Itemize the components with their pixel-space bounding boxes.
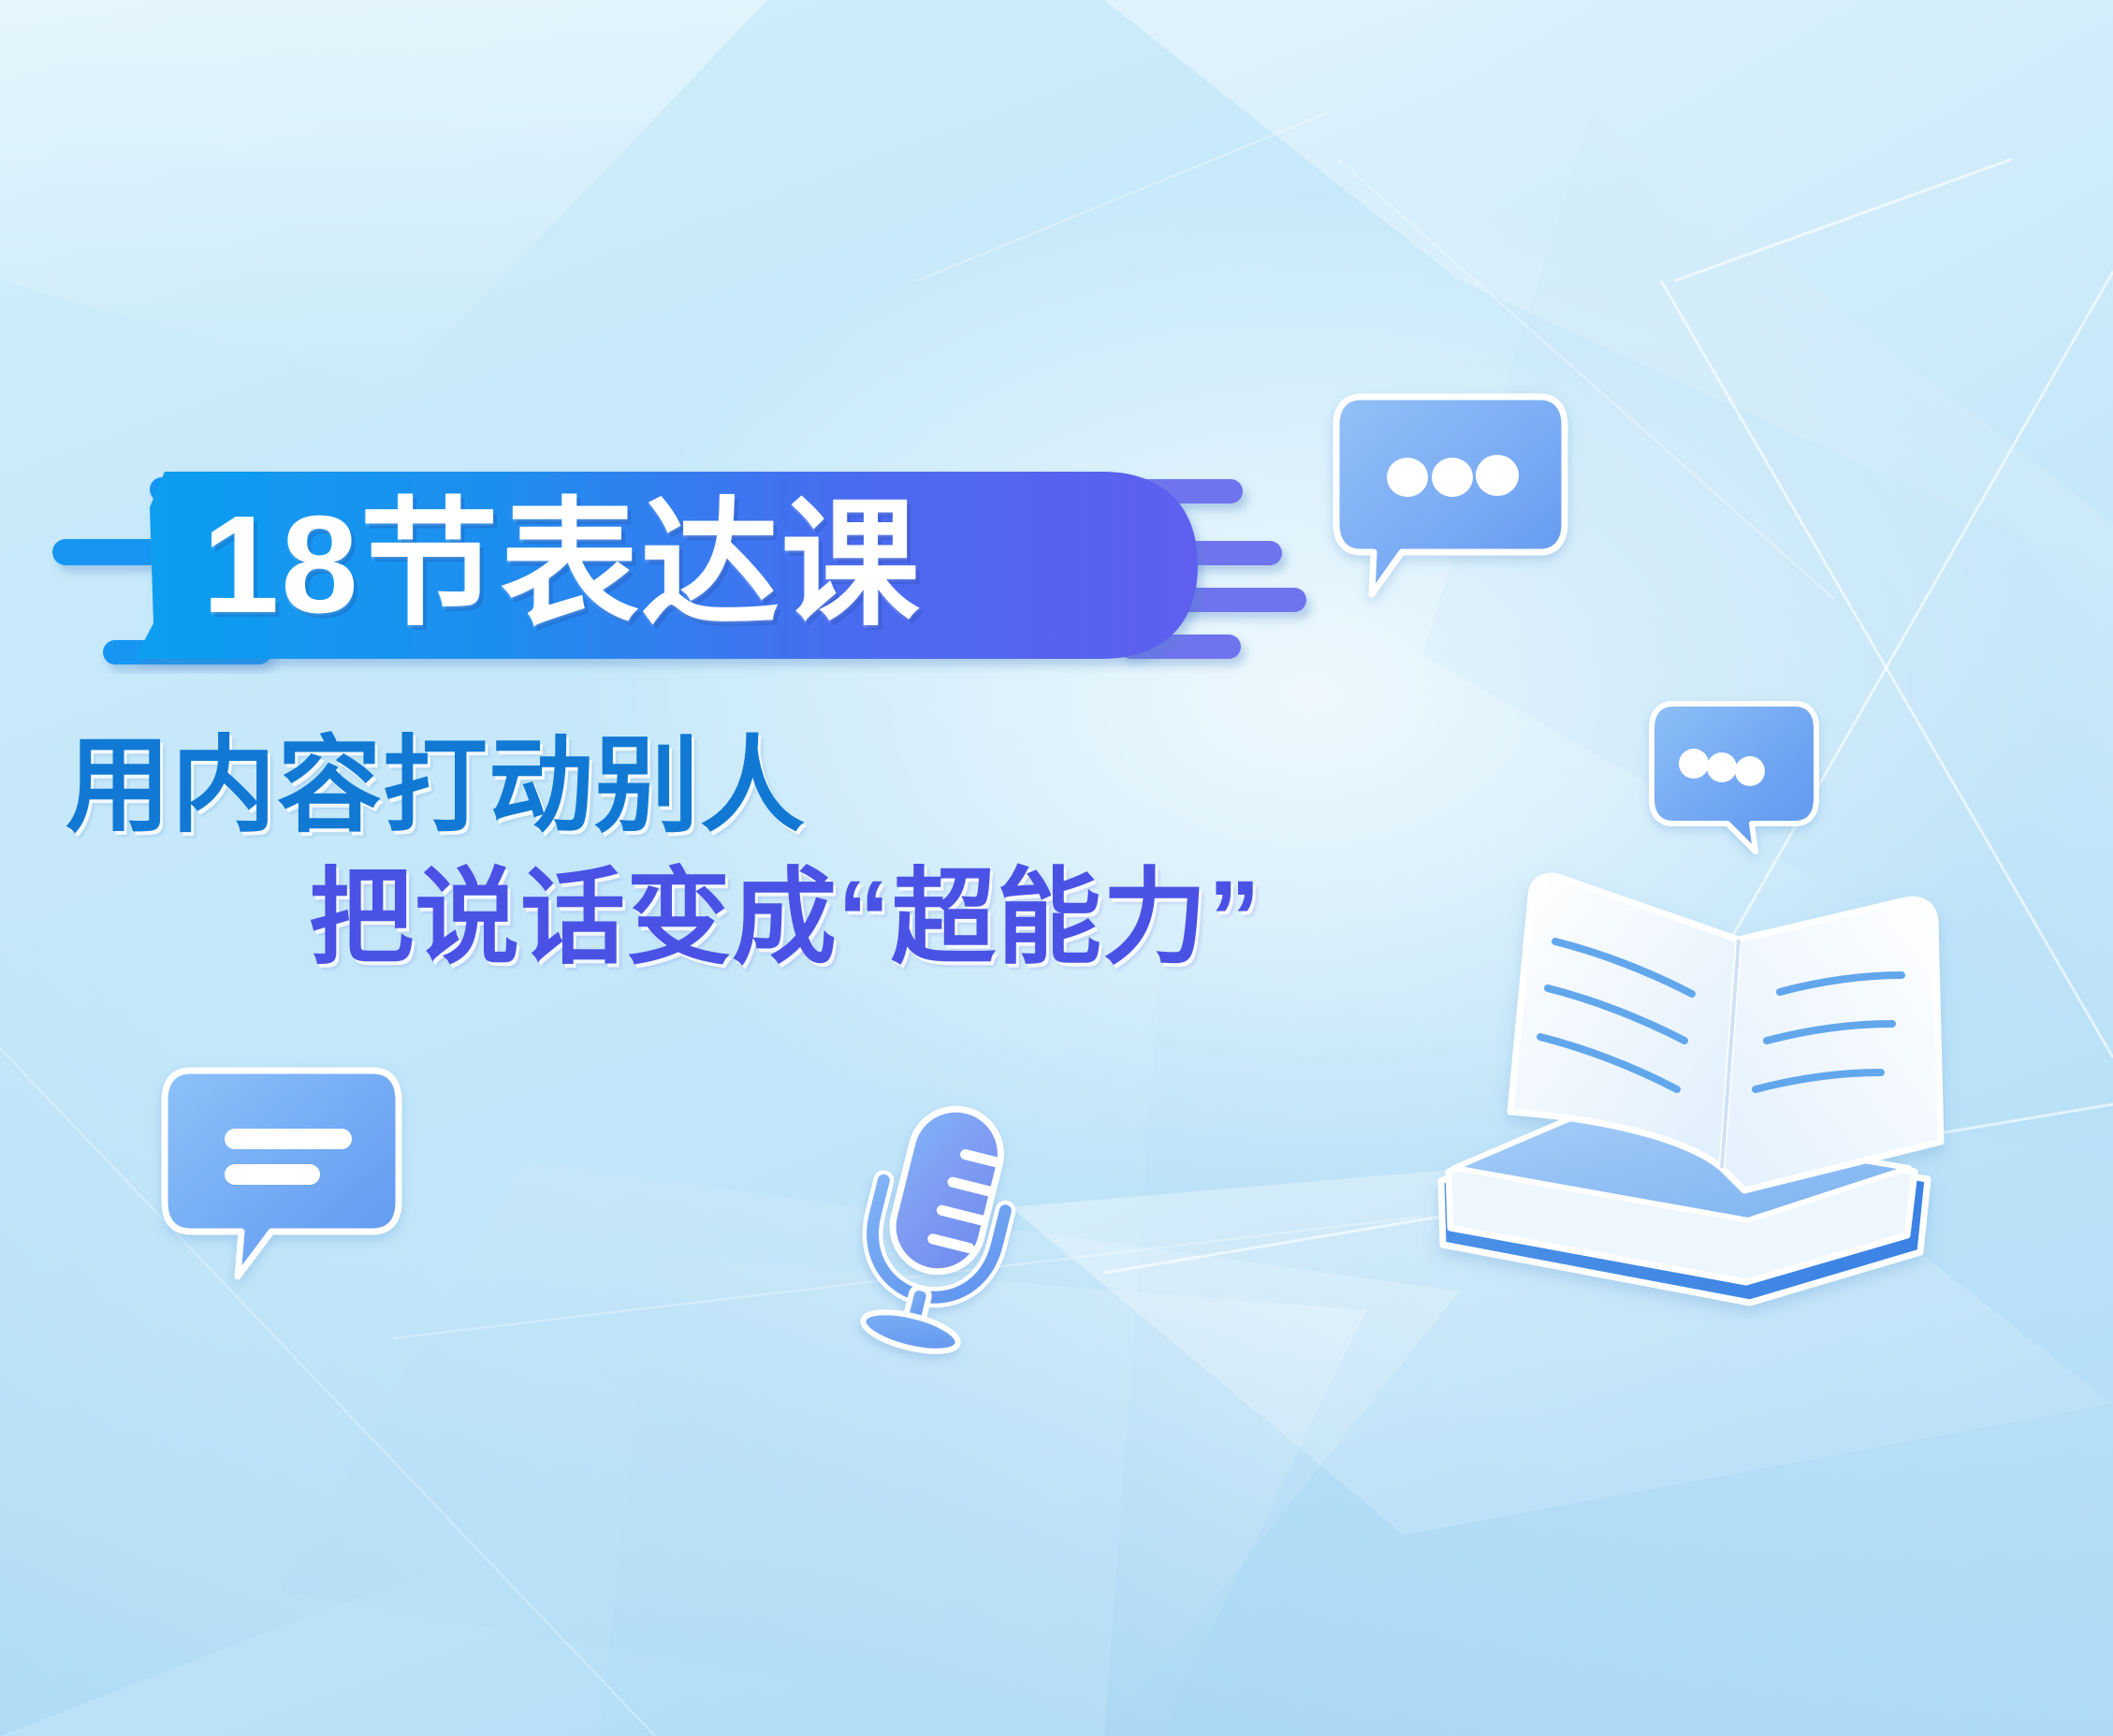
- speech-bubble-dots-2: [1647, 700, 1825, 854]
- subtitle-block: 用内容打动别人 把说话变成“超能力”: [66, 722, 1450, 982]
- title-banner: 18节表达课: [45, 457, 1318, 674]
- banner-title-text: 18节表达课: [202, 457, 1222, 674]
- open-book-icon: [1441, 842, 1965, 1338]
- subtitle-line-1: 用内容打动别人: [66, 722, 1450, 851]
- open-book: [1441, 842, 1965, 1338]
- speech-bubble-lines: [159, 1067, 412, 1282]
- speech-bubble-dots-icon: [1647, 700, 1825, 854]
- subtitle-line-2: 把说话变成“超能力”: [309, 854, 1450, 983]
- bubble-dots: [1387, 455, 1519, 497]
- speech-bubble-dots-icon: [1329, 393, 1572, 599]
- course-promo-poster: 18节表达课 用内容打动别人 把说话变成“超能力”: [0, 0, 2113, 1736]
- speech-bubble-dots-1: [1329, 393, 1572, 599]
- microphone-icon: [842, 1090, 1039, 1352]
- microphone: [842, 1090, 1039, 1352]
- speech-bubble-lines-icon: [159, 1067, 412, 1282]
